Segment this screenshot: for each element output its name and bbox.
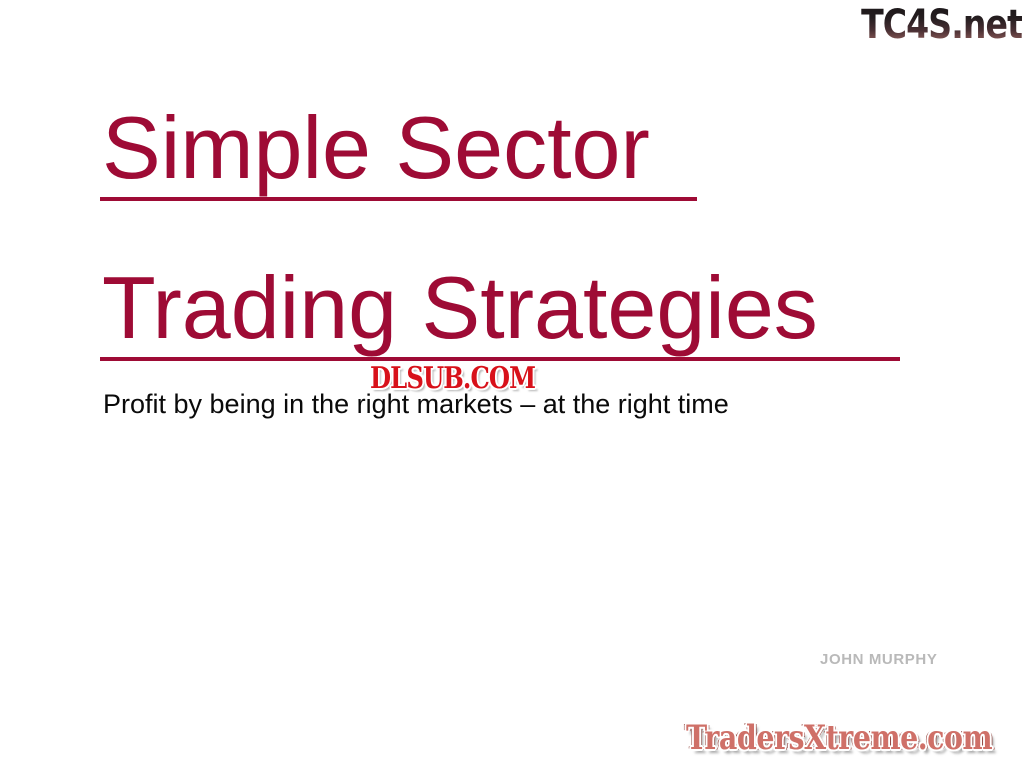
tc4s-watermark: TC4S.net (851, 2, 1022, 48)
page-title: Simple Sector Trading Strategies (100, 104, 940, 361)
tradersxtreme-watermark: TradersXtreme.com (686, 718, 992, 758)
title-line-1: Simple Sector (102, 104, 940, 192)
title-line-2: Trading Strategies (102, 264, 940, 352)
dlsub-watermark: DLSUB.COM (370, 362, 535, 396)
title-line-spacer (100, 201, 940, 264)
presentation-title-slide: TC4S.net Simple Sector Trading Strategie… (0, 0, 1024, 768)
author-credit: JOHN MURPHY (820, 651, 937, 668)
